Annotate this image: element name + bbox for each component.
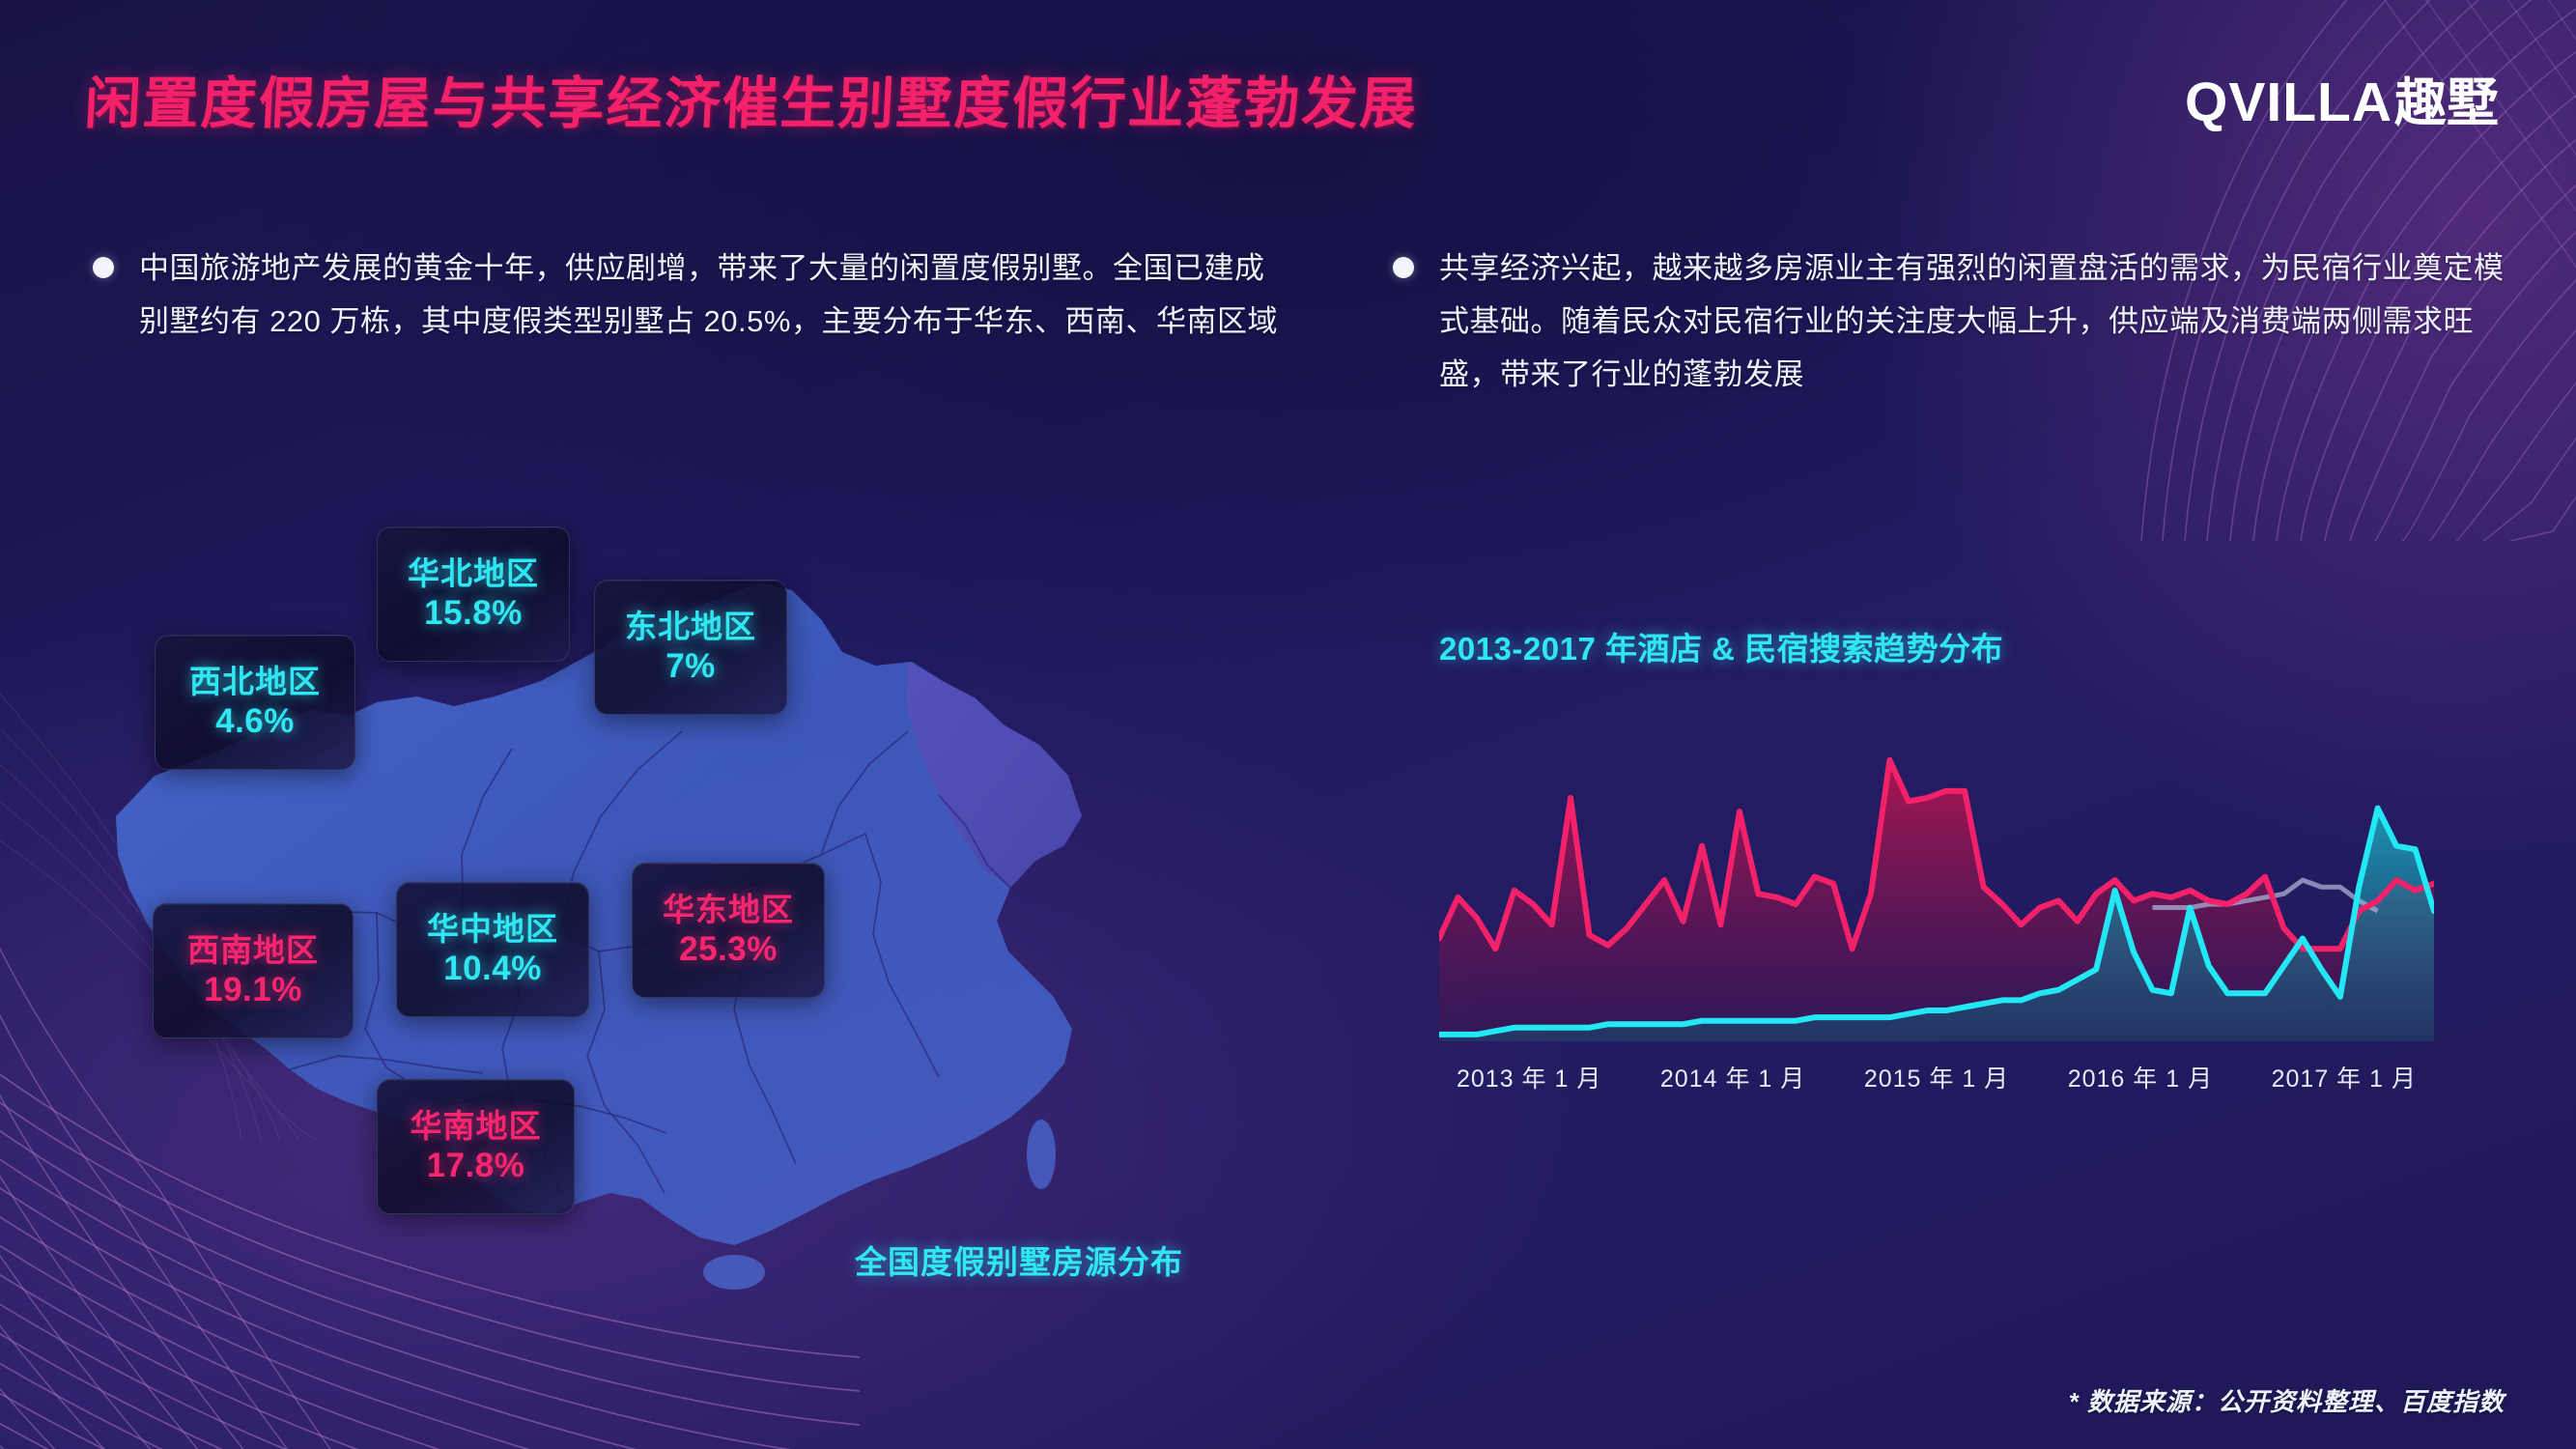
chart-plot-area — [1439, 698, 2434, 1041]
x-tick-2013: 2013 年 1 月 — [1457, 1060, 1601, 1094]
region-value: 19.1% — [204, 970, 302, 1010]
bullet-item-left: 中国旅游地产发展的黄金十年，供应剧增，带来了大量的闲置度假别墅。全国已建成别墅约… — [93, 241, 1281, 348]
bullet-text-right: 共享经济兴起，越来越多房源业主有强烈的闲置盘活的需求，为民宿行业奠定模式基础。随… — [1439, 241, 2533, 402]
chart-svg — [1439, 698, 2434, 1041]
region-value: 17.8% — [427, 1146, 525, 1186]
x-tick-2015: 2015 年 1 月 — [1864, 1060, 2009, 1094]
region-chip-huabei[interactable]: 华北地区 15.8% — [377, 526, 570, 662]
region-value: 25.3% — [679, 929, 778, 970]
region-chip-xibei[interactable]: 西北地区 4.6% — [155, 635, 355, 770]
bullet-list: 中国旅游地产发展的黄金十年，供应剧增，带来了大量的闲置度假别墅。全国已建成别墅约… — [0, 241, 2576, 522]
region-chip-dongbei[interactable]: 东北地区 7% — [594, 580, 787, 715]
region-name: 西南地区 — [187, 931, 319, 970]
slide-header: 闲置度假房屋与共享经济催生别墅度假行业蓬勃发展 QVILLA 趣墅 — [85, 58, 2518, 147]
region-name: 东北地区 — [625, 608, 756, 646]
x-tick-2016: 2016 年 1 月 — [2068, 1060, 2213, 1094]
logo-text-en: QVILLA — [2185, 71, 2392, 134]
china-map: 华北地区 15.8% 东北地区 7% 西北地区 4.6% 华中地区 10.4% … — [58, 526, 1333, 1299]
region-chip-huazhong[interactable]: 华中地区 10.4% — [396, 882, 589, 1017]
region-name: 华东地区 — [663, 891, 794, 929]
bullet-dot-icon — [93, 257, 114, 278]
region-chip-huanan[interactable]: 华南地区 17.8% — [377, 1079, 575, 1214]
region-name: 华北地区 — [408, 554, 539, 593]
brand-logo: QVILLA 趣墅 — [2185, 60, 2499, 136]
x-tick-2014: 2014 年 1 月 — [1660, 1060, 1805, 1094]
search-trend-chart: 2013-2017 年酒店 & 民宿搜索趋势分布 2013 年 1 月 — [1439, 623, 2482, 1164]
region-value: 10.4% — [443, 949, 542, 989]
slide-canvas: 闲置度假房屋与共享经济催生别墅度假行业蓬勃发展 QVILLA 趣墅 中国旅游地产… — [0, 0, 2576, 1449]
bullet-item-right: 共享经济兴起，越来越多房源业主有强烈的闲置盘活的需求，为民宿行业奠定模式基础。随… — [1393, 241, 2533, 402]
region-value: 15.8% — [424, 593, 523, 634]
region-chip-xinan[interactable]: 西南地区 19.1% — [153, 903, 354, 1038]
chart-title: 2013-2017 年酒店 & 民宿搜索趋势分布 — [1439, 623, 2482, 669]
chart-x-axis: 2013 年 1 月 2014 年 1 月 2015 年 1 月 2016 年 … — [1439, 1060, 2434, 1094]
page-title: 闲置度假房屋与共享经济催生别墅度假行业蓬勃发展 — [83, 58, 1420, 139]
data-source-footnote: * 数据来源：公开资料整理、百度指数 — [2069, 1382, 2505, 1418]
bullet-text-left: 中国旅游地产发展的黄金十年，供应剧增，带来了大量的闲置度假别墅。全国已建成别墅约… — [139, 241, 1281, 348]
region-value: 4.6% — [215, 701, 295, 742]
x-tick-2017: 2017 年 1 月 — [2272, 1060, 2417, 1094]
region-value: 7% — [665, 646, 716, 687]
region-name: 华中地区 — [427, 910, 558, 949]
region-name: 华南地区 — [410, 1107, 542, 1146]
region-name: 西北地区 — [189, 663, 321, 701]
map-caption: 全国度假别墅房源分布 — [855, 1236, 1183, 1283]
region-chip-huadong[interactable]: 华东地区 25.3% — [632, 863, 825, 998]
logo-text-cn: 趣墅 — [2394, 60, 2499, 136]
bullet-dot-icon — [1393, 257, 1414, 278]
